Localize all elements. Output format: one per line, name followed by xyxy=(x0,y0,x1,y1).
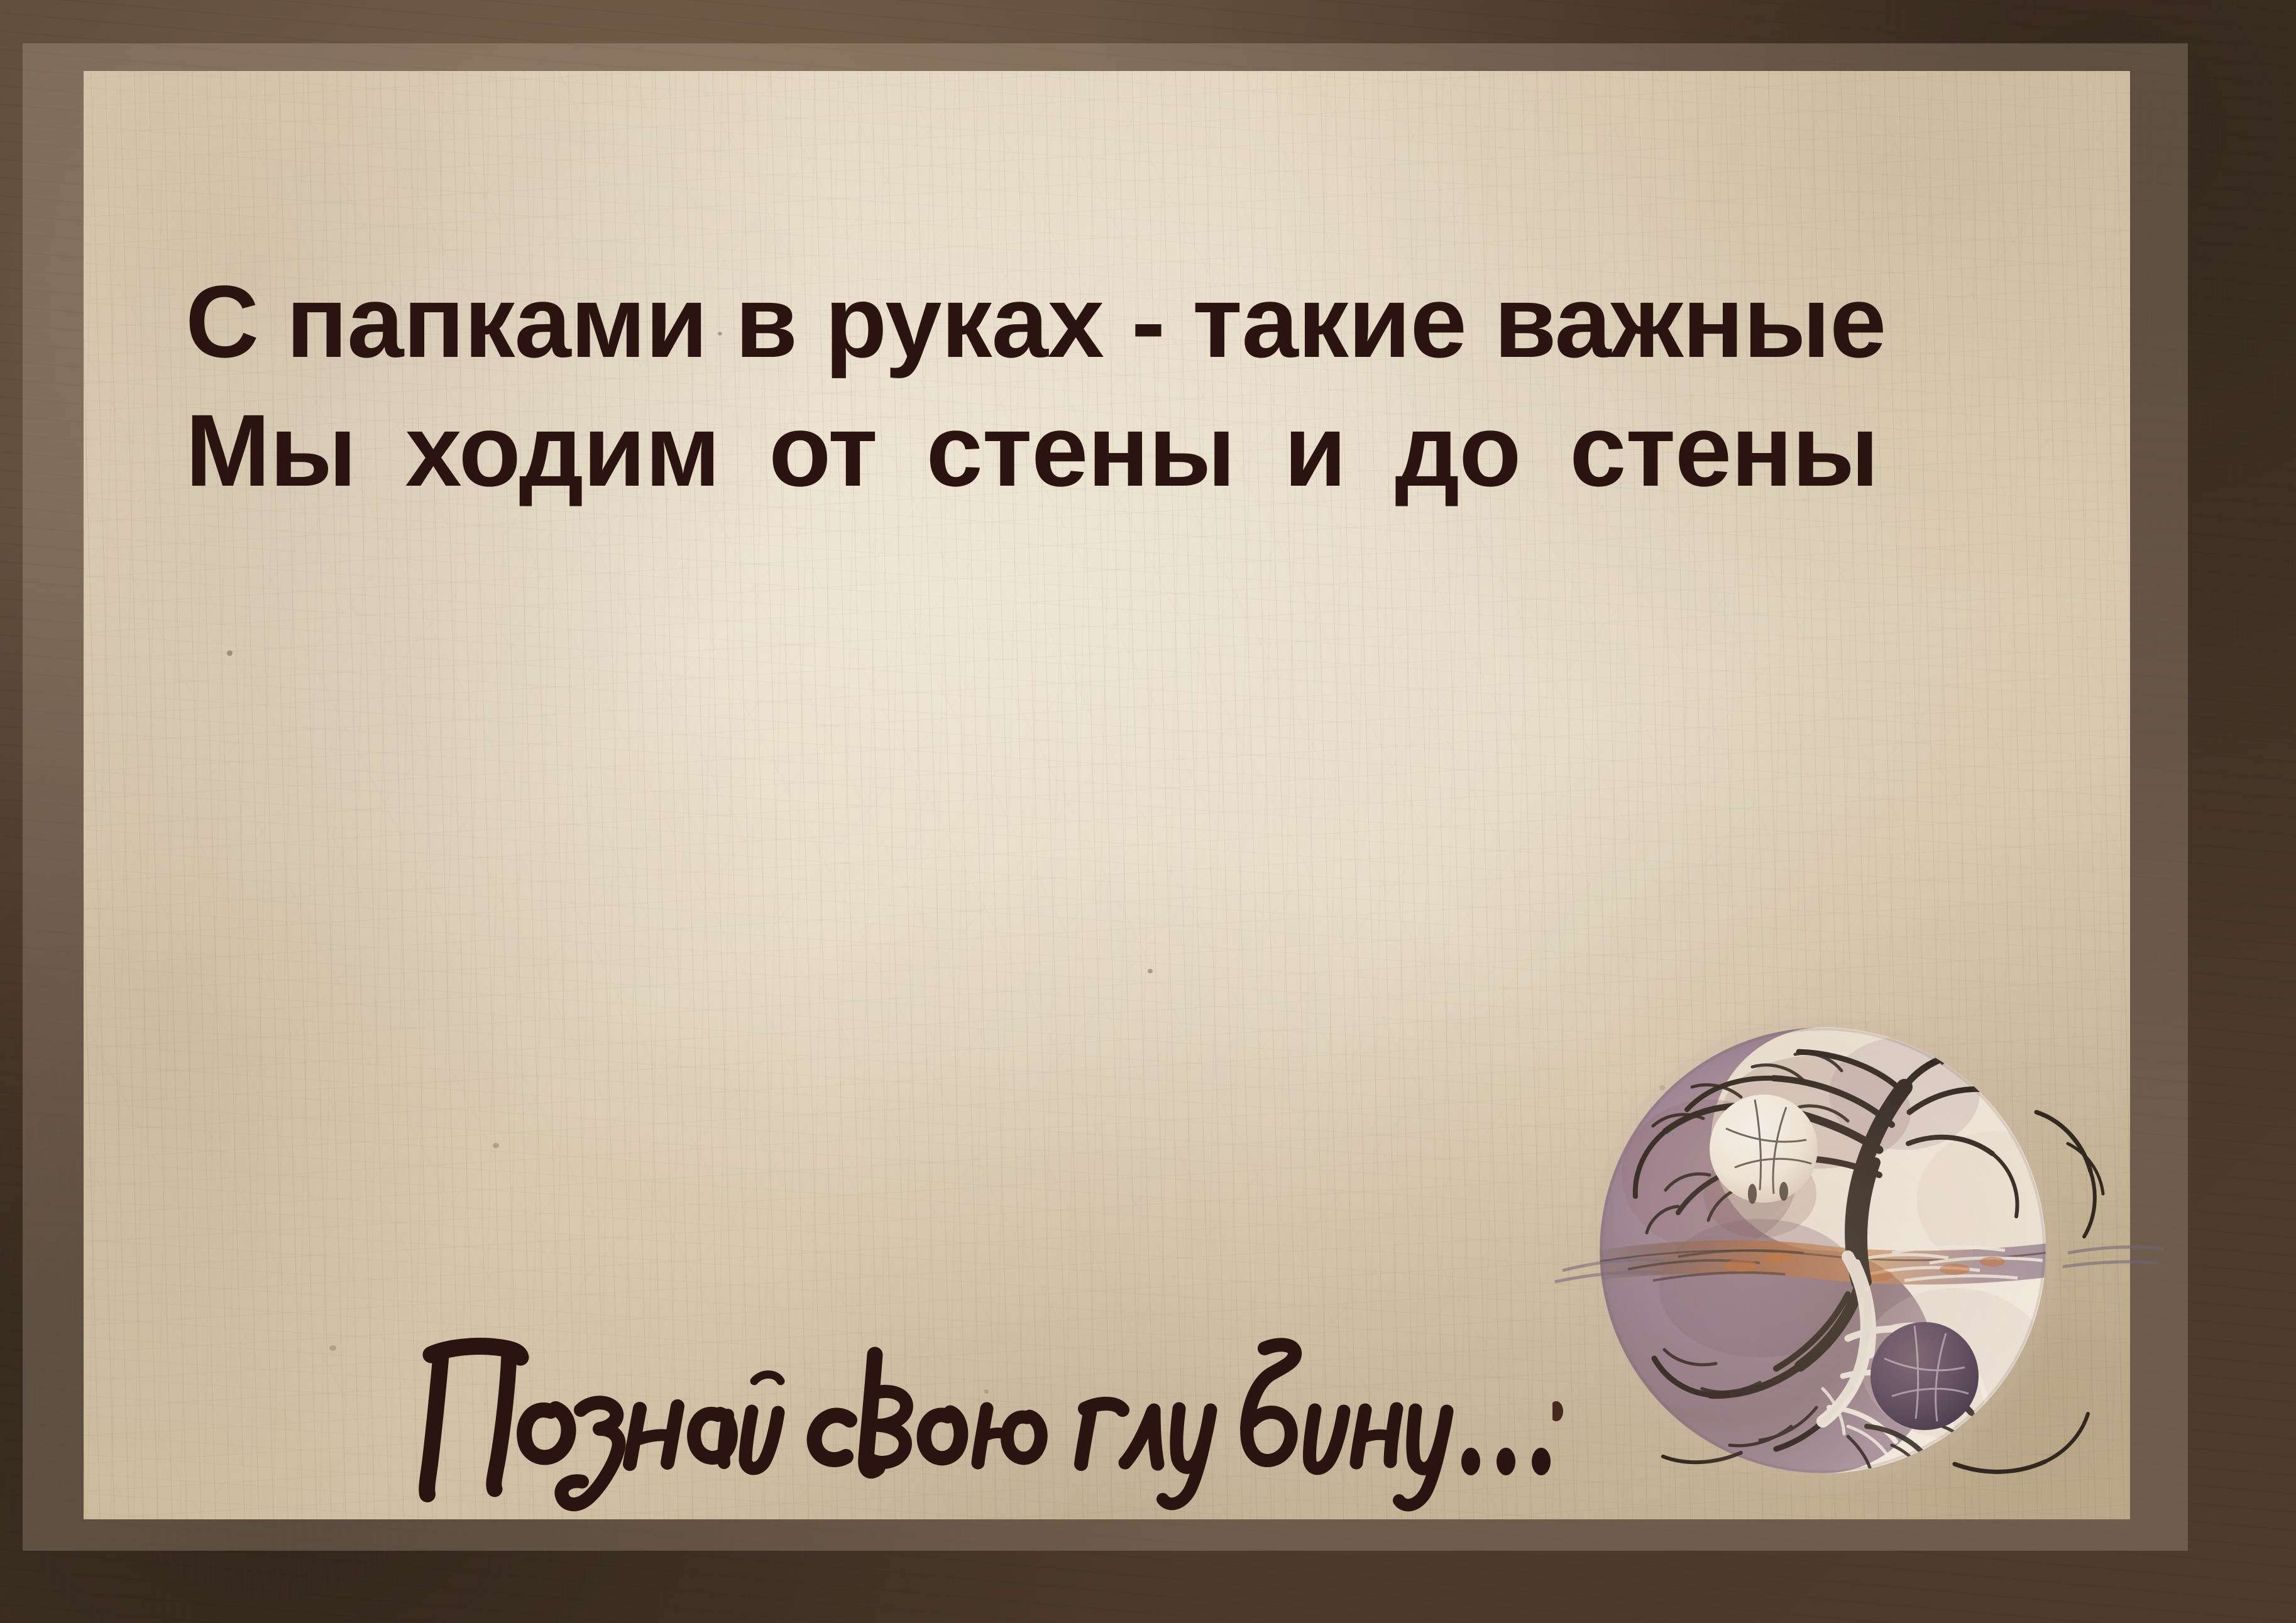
signature-script xyxy=(402,1306,1471,1513)
overflow-foliage xyxy=(1555,1247,2163,1282)
dark-tree xyxy=(1635,1047,2057,1449)
yin-yang-tree-artwork xyxy=(1552,986,2168,1521)
light-moon xyxy=(1710,1095,1818,1204)
dark-moon xyxy=(1870,1322,1979,1430)
overflow-branches xyxy=(1663,1112,2103,1472)
yin-yang-tree-svg xyxy=(1552,986,2168,1521)
yin-yang-disc xyxy=(1565,1018,2093,1495)
verse-line-2: Мы ходим от стены и до стены xyxy=(185,399,1980,501)
foliage-band xyxy=(1565,1237,2093,1284)
signature-ellipsis xyxy=(1461,1448,1551,1475)
poster: С папками в руках - такие важные Мы ходи… xyxy=(0,0,2296,1623)
verse-line-1: С папками в руках - такие важные xyxy=(185,270,1980,373)
verse-block: С папками в руках - такие важные Мы ходи… xyxy=(185,270,1989,501)
light-tree xyxy=(1823,1257,1986,1460)
yin-half xyxy=(1600,1027,1934,1473)
signature-svg xyxy=(402,1306,1471,1513)
ink-dot xyxy=(1552,1401,1563,1421)
